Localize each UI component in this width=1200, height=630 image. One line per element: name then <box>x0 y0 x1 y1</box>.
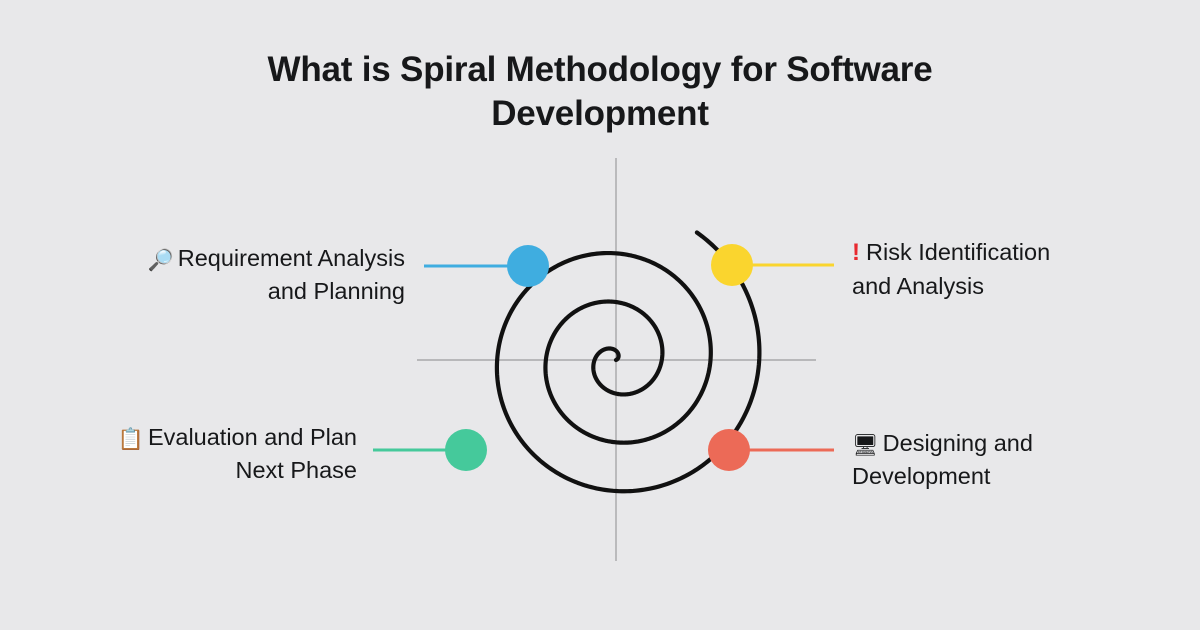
magnifying-glass-icon: 🔎 <box>148 249 174 272</box>
label-designing-line-2: Development <box>852 460 1182 493</box>
label-requirement-line-2: and Planning <box>30 275 405 308</box>
label-designing-development[interactable]: 🖥Designing and Development <box>852 427 1182 494</box>
exclamation-mark-icon: ! <box>852 239 860 266</box>
label-evaluation-text-1: Evaluation and Plan <box>148 424 357 450</box>
dot-evaluation-next-phase[interactable] <box>445 429 487 471</box>
label-requirement-text-1: Requirement Analysis <box>178 245 405 271</box>
label-risk-line-2: and Analysis <box>852 270 1182 303</box>
label-risk-line-1: !Risk Identification <box>852 236 1182 270</box>
desktop-computer-icon: 🖥 <box>852 434 879 457</box>
diagram-canvas: What is Spiral Methodology for Software … <box>0 0 1200 630</box>
dot-designing-development[interactable] <box>708 429 750 471</box>
label-evaluation-line-2: Next Phase <box>20 454 357 487</box>
dot-risk-identification[interactable] <box>711 244 753 286</box>
label-designing-text-1: Designing and <box>883 430 1033 456</box>
label-risk-text-1: Risk Identification <box>866 239 1050 265</box>
dot-requirement-analysis[interactable] <box>507 245 549 287</box>
label-requirement-analysis[interactable]: 🔎Requirement Analysis and Planning <box>30 242 405 309</box>
label-risk-identification[interactable]: !Risk Identification and Analysis <box>852 236 1182 303</box>
connector-lines <box>373 265 834 450</box>
label-requirement-line-1: 🔎Requirement Analysis <box>30 242 405 275</box>
clipboard-icon: 📋 <box>118 428 144 451</box>
spiral-diagram <box>0 0 1200 630</box>
label-evaluation-next-phase[interactable]: 📋Evaluation and Plan Next Phase <box>20 421 357 488</box>
label-designing-line-1: 🖥Designing and <box>852 427 1182 460</box>
label-evaluation-line-1: 📋Evaluation and Plan <box>20 421 357 454</box>
